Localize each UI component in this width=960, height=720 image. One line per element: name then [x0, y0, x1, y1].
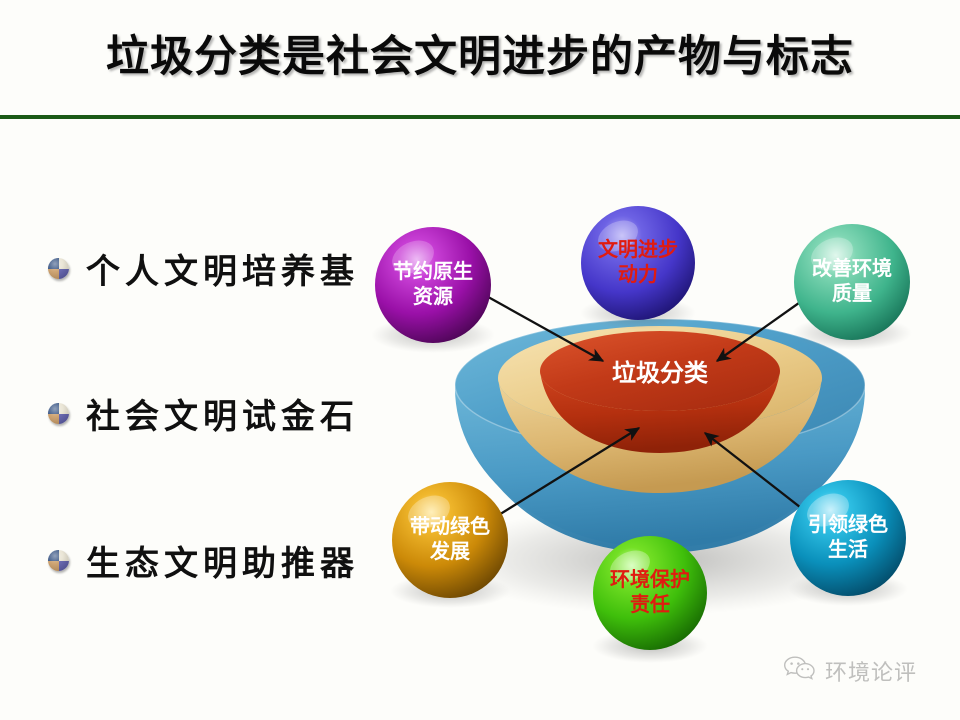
bullet-item-1-label: 个人文明培养基	[86, 244, 359, 293]
bullet-item-1: 个人文明培养基	[48, 244, 359, 293]
node-civilization-driver[interactable]: 文明进步 动力	[581, 206, 695, 320]
node-green-development[interactable]: 带动绿色 发展	[392, 482, 508, 598]
quad-sphere-bullet-icon	[48, 550, 69, 571]
bullet-item-3-label: 生态文明助推器	[86, 536, 359, 585]
node-improve-environment[interactable]: 改善环境 质量	[794, 224, 910, 340]
watermark: 环境论评	[782, 654, 917, 687]
wechat-icon	[782, 654, 816, 687]
quad-sphere-bullet-icon	[48, 403, 69, 424]
page-title: 垃圾分类是社会文明进步的产物与标志	[0, 22, 960, 84]
title-divider	[0, 115, 960, 119]
node-environmental-responsibility[interactable]: 环境保护 责任	[593, 536, 707, 650]
bullet-item-2: 社会文明试金石	[48, 389, 359, 438]
slide-canvas: 垃圾分类是社会文明进步的产物与标志 个人文明培养基 社会文明试金石 生态文明助推…	[0, 0, 960, 720]
node-save-resources[interactable]: 节约原生 资源	[375, 227, 491, 343]
bullet-item-2-label: 社会文明试金石	[86, 389, 359, 438]
quad-sphere-bullet-icon	[48, 258, 69, 279]
watermark-label: 环境论评	[825, 655, 917, 687]
node-green-living[interactable]: 引领绿色 生活	[790, 480, 906, 596]
bullet-item-3: 生态文明助推器	[48, 536, 359, 585]
funnel-diagram: 垃圾分类 节约原生 资源	[355, 185, 960, 675]
